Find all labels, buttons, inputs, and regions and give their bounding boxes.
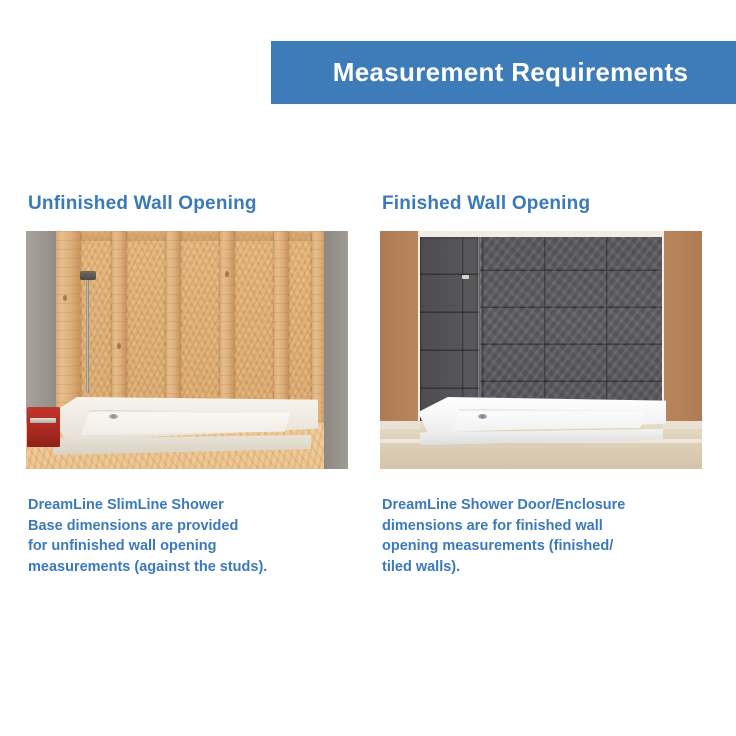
shower-base-pan	[77, 410, 291, 437]
pipe-valve	[80, 271, 96, 280]
painted-wall-left	[380, 231, 418, 427]
adjacent-gray-wall-right-lower	[324, 423, 348, 469]
painted-wall-right	[664, 231, 702, 431]
finished-wall-shower-base-photo	[380, 231, 702, 469]
slimline-shower-base	[418, 397, 666, 445]
shower-base-pan	[448, 409, 646, 432]
caption-finished-wall-opening: DreamLine Shower Door/Enclosure dimensio…	[382, 495, 702, 577]
caption-unfinished-wall-opening: DreamLine SlimLine Shower Base dimension…	[28, 495, 348, 577]
panel-finished-wall-opening: Finished Wall Opening DreamLine Shower D…	[380, 193, 702, 577]
panel-unfinished-wall-opening: Unfinished Wall Opening	[26, 193, 348, 577]
baseboard-right	[662, 421, 702, 429]
slimline-shower-base	[50, 397, 318, 455]
adjacent-gray-wall-right	[324, 231, 348, 445]
shower-drain	[478, 414, 487, 419]
heading-finished-wall-opening: Finished Wall Opening	[382, 193, 702, 215]
unfinished-wall-shower-base-photo	[26, 231, 348, 469]
heading-unfinished-wall-opening: Unfinished Wall Opening	[28, 193, 348, 215]
red-toolbox	[27, 407, 60, 447]
shower-supply-pipe	[86, 275, 89, 393]
toolbox-handle	[30, 418, 56, 423]
header-banner: Measurement Requirements	[271, 41, 736, 104]
page-title: Measurement Requirements	[333, 57, 688, 88]
wall-fixture	[462, 275, 469, 279]
baseboard-left	[380, 421, 420, 429]
